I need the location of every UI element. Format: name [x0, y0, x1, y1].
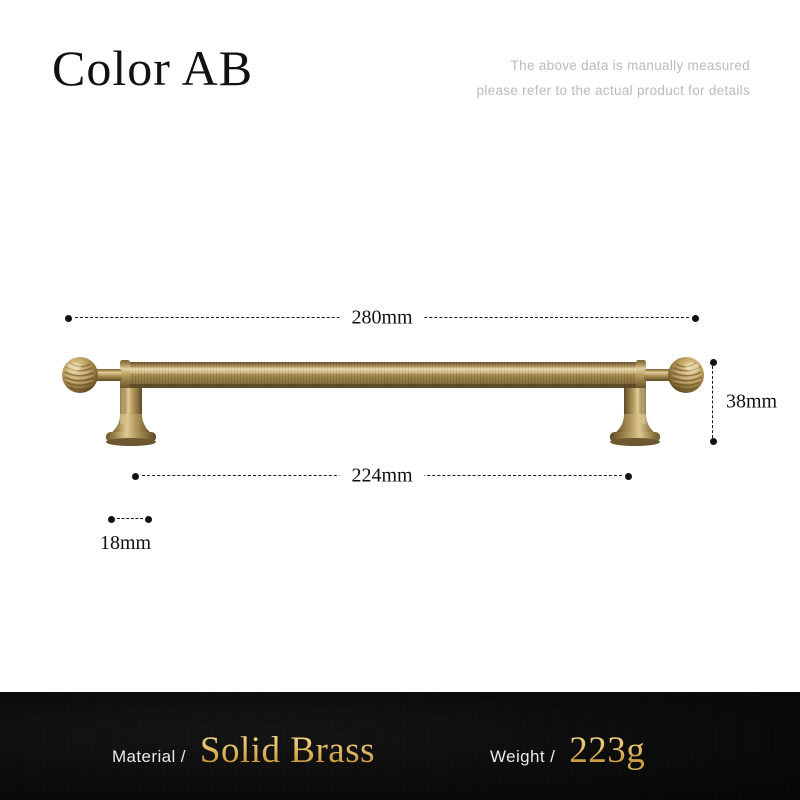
product-spec-sheet: Color AB The above data is manually meas… — [0, 0, 800, 800]
spec-weight: Weight / 223g — [490, 729, 645, 772]
dimension-label-post-width: 18mm — [100, 532, 151, 555]
handle-main-bar — [126, 362, 640, 388]
disclaimer-line-2: please refer to the actual product for d… — [477, 79, 750, 104]
dimension-label-center-to-center: 224mm — [339, 465, 424, 488]
dimension-dash-left — [75, 317, 365, 318]
dimension-label-projection: 38mm — [726, 391, 777, 414]
dimension-dash-vertical — [712, 366, 713, 438]
spec-material: Material / Solid Brass — [112, 729, 375, 772]
dimension-endpoint-left — [108, 516, 115, 523]
dimension-endpoint-left — [65, 315, 72, 322]
dimension-overall-length: 280mm — [65, 311, 699, 325]
page-title: Color AB — [52, 42, 253, 95]
dimension-dash-right — [399, 317, 689, 318]
dimension-projection: 38mm — [706, 359, 720, 445]
dimension-label-overall-length: 280mm — [339, 307, 424, 330]
dimension-endpoint-bottom — [710, 438, 717, 445]
spec-material-value: Solid Brass — [200, 729, 375, 772]
spec-material-key: Material / — [112, 747, 186, 767]
dimension-endpoint-right — [692, 315, 699, 322]
handle-bar-icon — [48, 348, 718, 452]
dimension-dash-right — [407, 475, 622, 476]
dimension-post-width — [108, 512, 152, 526]
dimension-endpoint-top — [710, 359, 717, 366]
dimension-endpoint-right — [145, 516, 152, 523]
dimension-endpoint-left — [132, 473, 139, 480]
disclaimer-line-1: The above data is manually measured — [477, 54, 750, 79]
disclaimer-note: The above data is manually measured plea… — [477, 54, 750, 104]
dimension-dash-left — [142, 475, 357, 476]
spec-weight-key: Weight / — [490, 747, 555, 767]
dimension-dash-small — [117, 518, 143, 519]
dimension-center-to-center: 224mm — [132, 469, 632, 483]
dimension-endpoint-right — [625, 473, 632, 480]
spec-weight-value: 223g — [569, 729, 645, 772]
spec-bar: Material / Solid Brass Weight / 223g — [0, 692, 800, 800]
